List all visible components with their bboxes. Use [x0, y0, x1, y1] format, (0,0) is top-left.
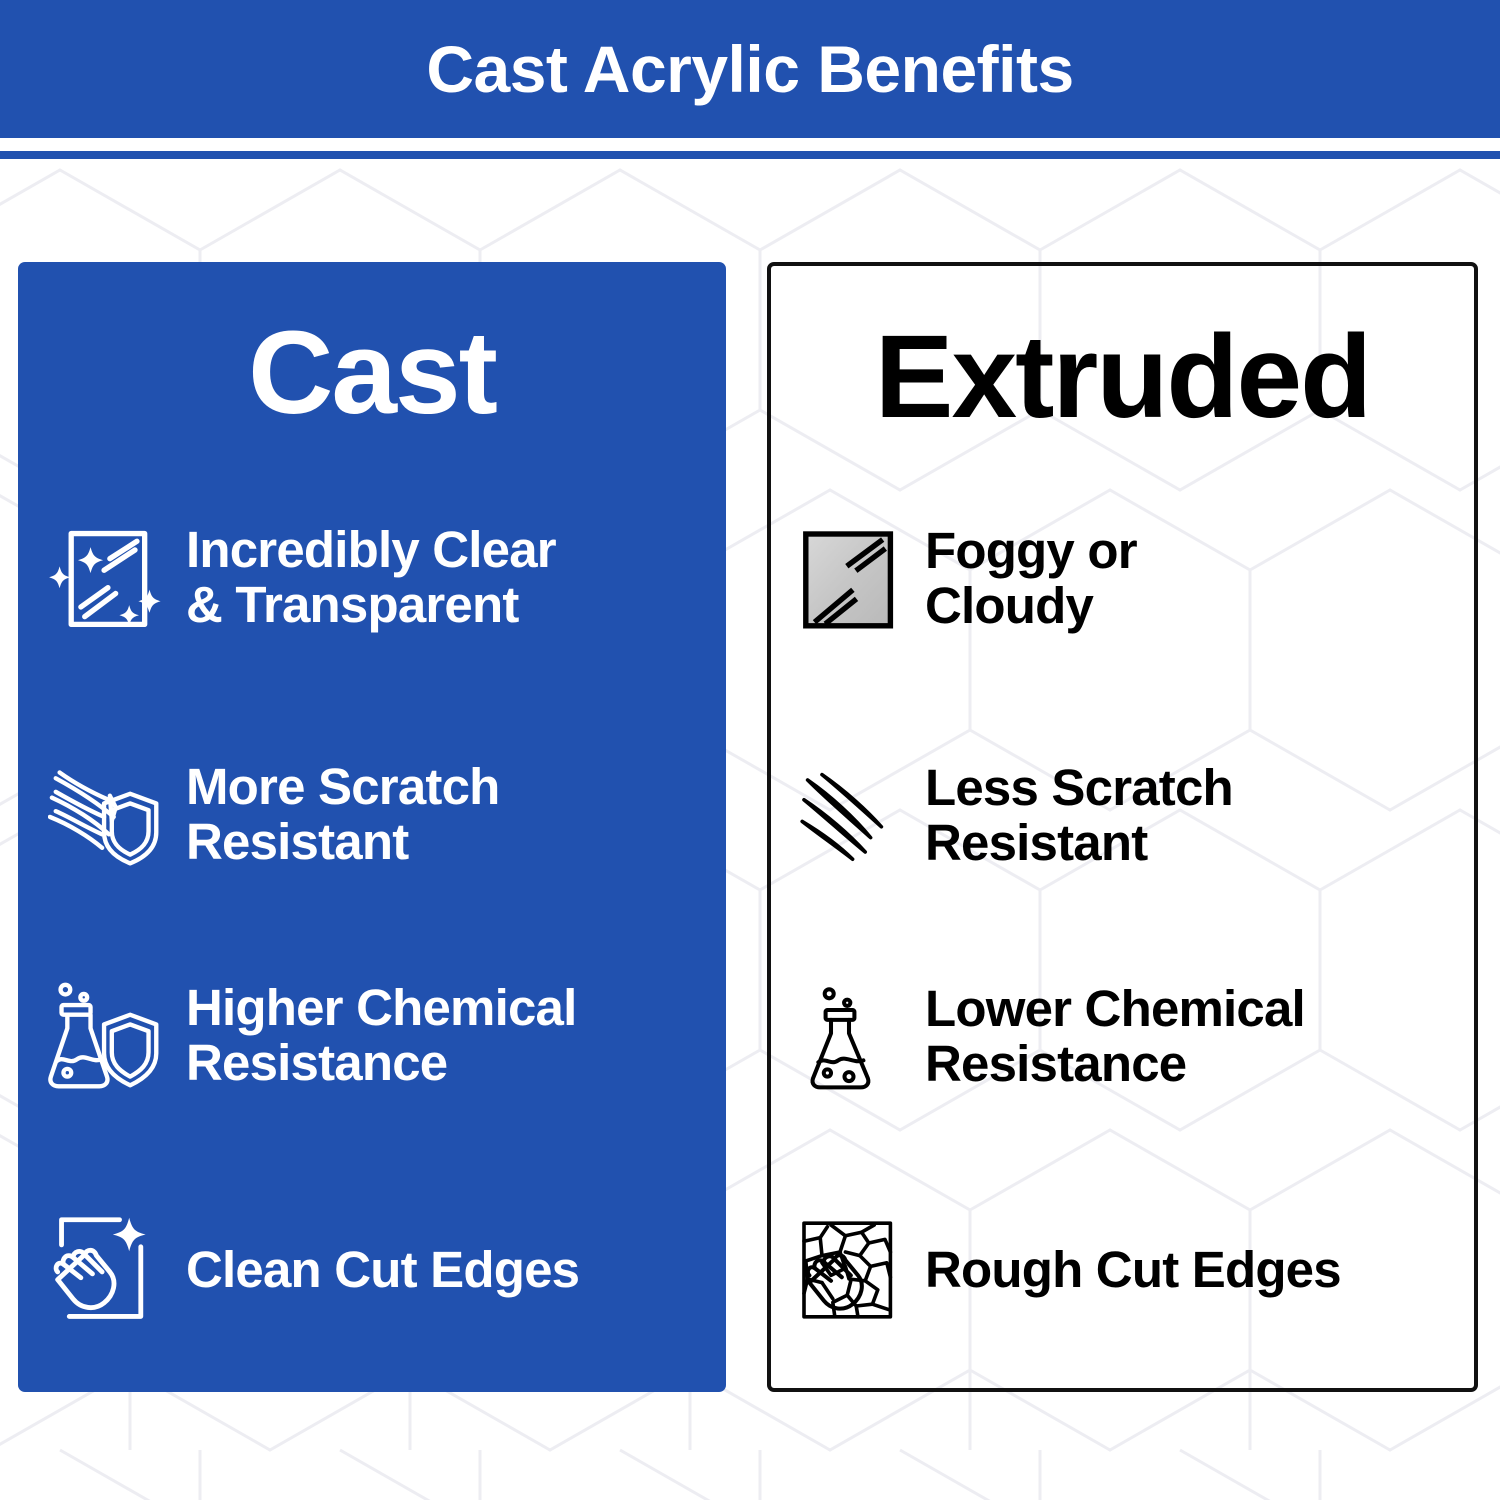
feature-row: Foggy or Cloudy [795, 524, 1460, 633]
extruded-column-card: Extruded [767, 262, 1478, 1392]
cast-column-title: Cast [18, 314, 726, 432]
feature-label: Rough Cut Edges [925, 1243, 1341, 1298]
page-title: Cast Acrylic Benefits [426, 36, 1073, 102]
scratch-shield-icon [48, 757, 164, 873]
flask-shield-icon [48, 978, 164, 1094]
foggy-glass-icon [795, 525, 903, 633]
rough-stone-edge-icon [795, 1216, 903, 1324]
clear-glass-sparkle-icon [48, 520, 164, 636]
scratch-marks-icon [795, 762, 903, 870]
feature-row: Incredibly Clear & Transparent [48, 520, 712, 636]
feature-label-line1: Lower Chemical [925, 982, 1305, 1037]
feature-row: Lower Chemical Resistance [795, 982, 1460, 1091]
feature-label-line2: & Transparent [186, 578, 556, 633]
feature-row: Higher Chemical Resistance [48, 978, 712, 1094]
feature-label-line2: Resistance [925, 1037, 1305, 1092]
feature-label: Foggy or Cloudy [925, 524, 1137, 633]
feature-label-line2: Resistance [186, 1036, 576, 1091]
header-divider-rule [0, 151, 1500, 159]
extruded-column-title: Extruded [771, 318, 1474, 436]
cast-column-card: Cast [18, 262, 726, 1392]
feature-label-line2: Cloudy [925, 579, 1137, 634]
feature-label: Clean Cut Edges [186, 1243, 579, 1298]
feature-label-line1: Clean Cut Edges [186, 1243, 579, 1298]
feature-label-line1: More Scratch [186, 760, 500, 815]
feature-label-line1: Less Scratch [925, 761, 1233, 816]
feature-row: Clean Cut Edges [48, 1212, 712, 1328]
feature-label-line1: Foggy or [925, 524, 1137, 579]
comparison-container: Cast [0, 0, 1500, 1500]
cast-feature-list: Incredibly Clear & Transparent [18, 520, 726, 1392]
feature-row: Rough Cut Edges [795, 1216, 1460, 1324]
feature-label-line1: Rough Cut Edges [925, 1243, 1341, 1298]
extruded-feature-list: Foggy or Cloudy [771, 524, 1474, 1388]
feature-label: Lower Chemical Resistance [925, 982, 1305, 1091]
feature-label-line1: Higher Chemical [186, 981, 576, 1036]
feature-label-line2: Resistant [186, 815, 500, 870]
feature-label-line2: Resistant [925, 816, 1233, 871]
feature-label: Higher Chemical Resistance [186, 981, 576, 1090]
polish-clean-edge-icon [48, 1212, 164, 1328]
feature-label: Incredibly Clear & Transparent [186, 523, 556, 632]
feature-row: More Scratch Resistant [48, 757, 712, 873]
feature-label-line1: Incredibly Clear [186, 523, 556, 578]
header-bar: Cast Acrylic Benefits [0, 0, 1500, 138]
feature-label: Less Scratch Resistant [925, 761, 1233, 870]
feature-label: More Scratch Resistant [186, 760, 500, 869]
feature-row: Less Scratch Resistant [795, 761, 1460, 870]
flask-icon [795, 983, 903, 1091]
